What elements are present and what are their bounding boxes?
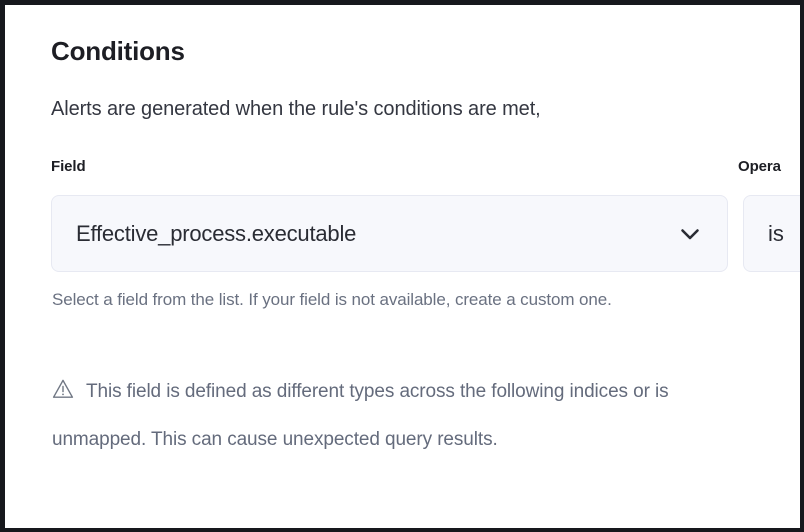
operator-label: Opera bbox=[738, 158, 781, 175]
screenshot-frame: Conditions Alerts are generated when the… bbox=[0, 0, 804, 532]
page-title: Conditions bbox=[51, 36, 185, 67]
field-warning-text: This field is defined as different types… bbox=[52, 381, 669, 450]
field-combobox[interactable]: Effective_process.executable bbox=[51, 195, 728, 272]
field-label: Field bbox=[51, 158, 86, 175]
warning-triangle-icon bbox=[52, 378, 74, 400]
field-warning-callout: This field is defined as different types… bbox=[52, 368, 752, 464]
field-selected-value: Effective_process.executable bbox=[76, 221, 356, 247]
chevron-down-icon[interactable] bbox=[677, 221, 703, 247]
conditions-panel: Conditions Alerts are generated when the… bbox=[5, 5, 800, 528]
field-help-text: Select a field from the list. If your fi… bbox=[52, 284, 692, 315]
operator-selected-value: is bbox=[768, 221, 784, 247]
operator-combobox[interactable]: is bbox=[743, 195, 800, 272]
panel-description: Alerts are generated when the rule's con… bbox=[51, 98, 541, 121]
